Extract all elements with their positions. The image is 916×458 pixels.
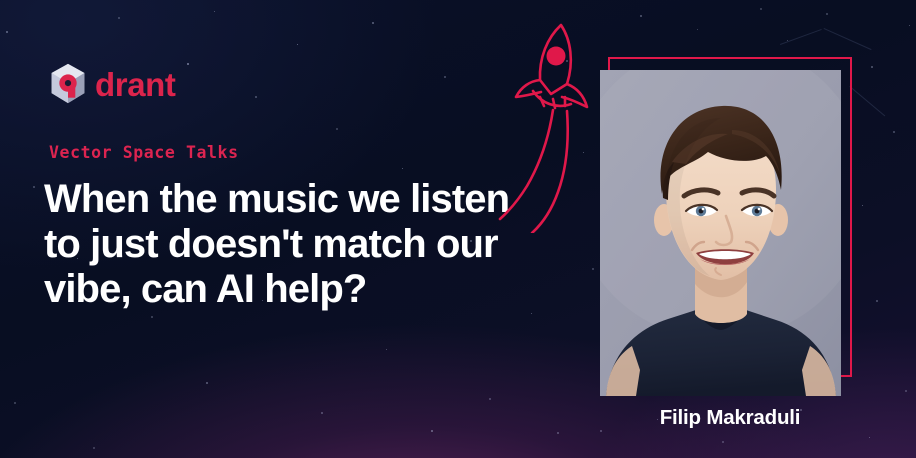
- qdrant-hexagon-logo-icon: [48, 63, 88, 105]
- avatar: [600, 70, 841, 396]
- portrait-illustration: [600, 70, 841, 396]
- qdrant-logo[interactable]: drant: [48, 63, 176, 105]
- speaker-name: Filip Makraduli: [600, 406, 860, 430]
- vector-space-talks-banner: drant Vector Space Talks When the music …: [0, 0, 916, 458]
- series-eyebrow-label: Vector Space Talks: [49, 143, 239, 162]
- logo-wordmark: drant: [95, 68, 176, 101]
- page-title: When the music we listen to just doesn't…: [44, 177, 514, 313]
